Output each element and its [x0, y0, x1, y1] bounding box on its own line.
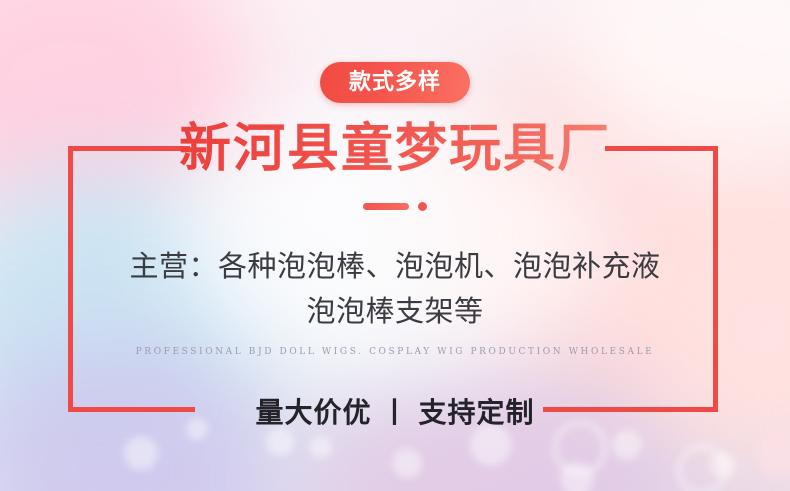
tagline: 量大价优丨支持定制	[0, 391, 790, 431]
product-description: 主营：各种泡泡棒、泡泡机、泡泡补充液 泡泡棒支架等	[0, 244, 790, 334]
english-subtitle: PROFESSIONAL BJD DOLL WIGS. COSPLAY WIG …	[0, 347, 790, 357]
decorative-divider	[0, 200, 790, 212]
tagline-separator: 丨	[380, 391, 409, 431]
promo-banner: 款式多样 新河县童梦玩具厂 主营：各种泡泡棒、泡泡机、泡泡补充液 泡泡棒支架等 …	[0, 0, 790, 491]
tagline-left-text: 量大价优	[255, 396, 371, 429]
tagline-right-text: 支持定制	[419, 396, 535, 429]
divider-bar	[363, 203, 409, 210]
divider-dot	[418, 202, 427, 211]
product-description-line-2: 泡泡棒支架等	[0, 289, 790, 334]
banner-content: 款式多样 新河县童梦玩具厂 主营：各种泡泡棒、泡泡机、泡泡补充液 泡泡棒支架等 …	[0, 0, 790, 491]
product-description-line-1: 主营：各种泡泡棒、泡泡机、泡泡补充液	[0, 244, 790, 289]
style-variety-badge: 款式多样	[320, 62, 470, 103]
company-title: 新河县童梦玩具厂	[0, 118, 790, 180]
